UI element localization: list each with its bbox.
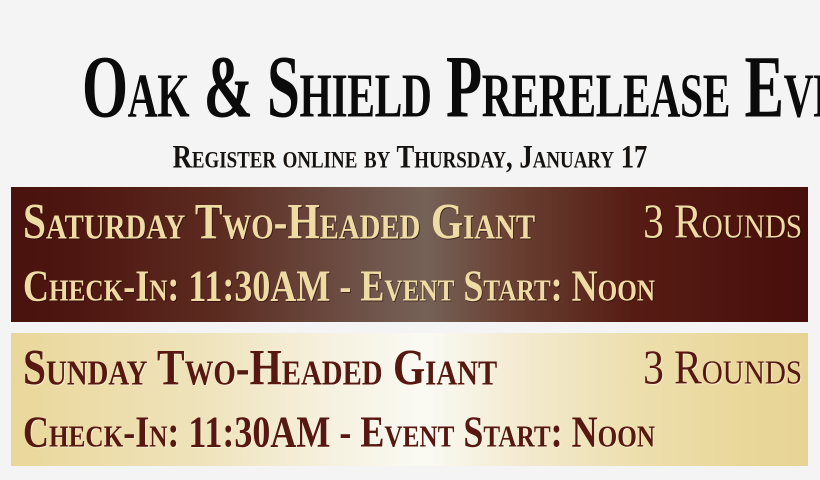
banner-saturday-event-title: Saturday Two-Headed Giant [23, 188, 535, 256]
banner-saturday-headline-row: Saturday Two-Headed Giant 3 Rounds [11, 191, 808, 257]
banner-sunday-headline-row: Sunday Two-Headed Giant 3 Rounds [11, 337, 808, 403]
banner-saturday-rounds: 3 Rounds [643, 188, 802, 256]
banner-sunday-event-title: Sunday Two-Headed Giant [23, 334, 497, 402]
banner-saturday: Saturday Two-Headed Giant 3 Rounds Check… [11, 187, 808, 322]
registration-subtitle: Register online by Thursday, January 17 [57, 139, 762, 175]
event-poster: Oak & Shield Prerelease Events Register … [0, 0, 820, 480]
banner-sunday-rounds: 3 Rounds [643, 334, 802, 402]
banner-sunday-times-row: Check-In: 11:30AM - Event Start: Noon [11, 401, 808, 466]
poster-header: Oak & Shield Prerelease Events Register … [0, 0, 820, 185]
banner-saturday-times-row: Check-In: 11:30AM - Event Start: Noon [11, 255, 808, 321]
banner-sunday: Sunday Two-Headed Giant 3 Rounds Check-I… [11, 333, 808, 466]
banner-saturday-times: Check-In: 11:30AM - Event Start: Noon [23, 252, 655, 320]
banner-sunday-times: Check-In: 11:30AM - Event Start: Noon [23, 398, 655, 466]
page-title: Oak & Shield Prerelease Events [82, 42, 738, 133]
